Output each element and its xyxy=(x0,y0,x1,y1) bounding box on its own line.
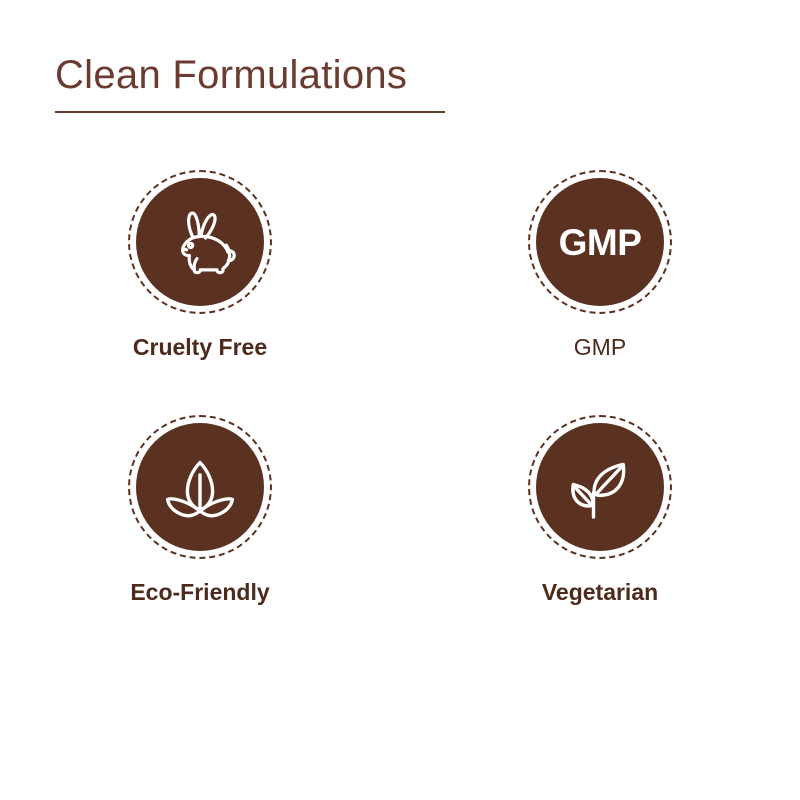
page-title: Clean Formulations xyxy=(55,54,715,97)
header: Clean Formulations xyxy=(55,54,715,113)
badge-disc xyxy=(136,423,264,551)
badge-grid: Cruelty Free GMP GMP xyxy=(0,170,800,660)
badge-medallion xyxy=(128,170,272,314)
badge-cruelty-free[interactable]: Cruelty Free xyxy=(100,170,300,415)
badge-medallion xyxy=(528,415,672,559)
badge-disc: GMP xyxy=(536,178,664,306)
title-underline-rule xyxy=(55,111,445,113)
gmp-text-icon: GMP xyxy=(559,224,642,261)
badge-vegetarian[interactable]: Vegetarian xyxy=(500,415,700,660)
badge-label: GMP xyxy=(574,334,626,361)
badge-gmp[interactable]: GMP GMP xyxy=(500,170,700,415)
badge-disc xyxy=(536,423,664,551)
badge-medallion xyxy=(128,415,272,559)
badge-label: Cruelty Free xyxy=(133,334,267,361)
badge-label: Eco-Friendly xyxy=(130,579,269,606)
rabbit-icon xyxy=(158,200,242,284)
sprout-icon xyxy=(558,445,642,529)
badge-label: Vegetarian xyxy=(542,579,658,606)
badge-medallion: GMP xyxy=(528,170,672,314)
three-leaves-icon xyxy=(157,444,243,530)
clean-formulations-panel: Clean Formulations xyxy=(0,0,800,800)
badge-eco-friendly[interactable]: Eco-Friendly xyxy=(100,415,300,660)
badge-disc xyxy=(136,178,264,306)
